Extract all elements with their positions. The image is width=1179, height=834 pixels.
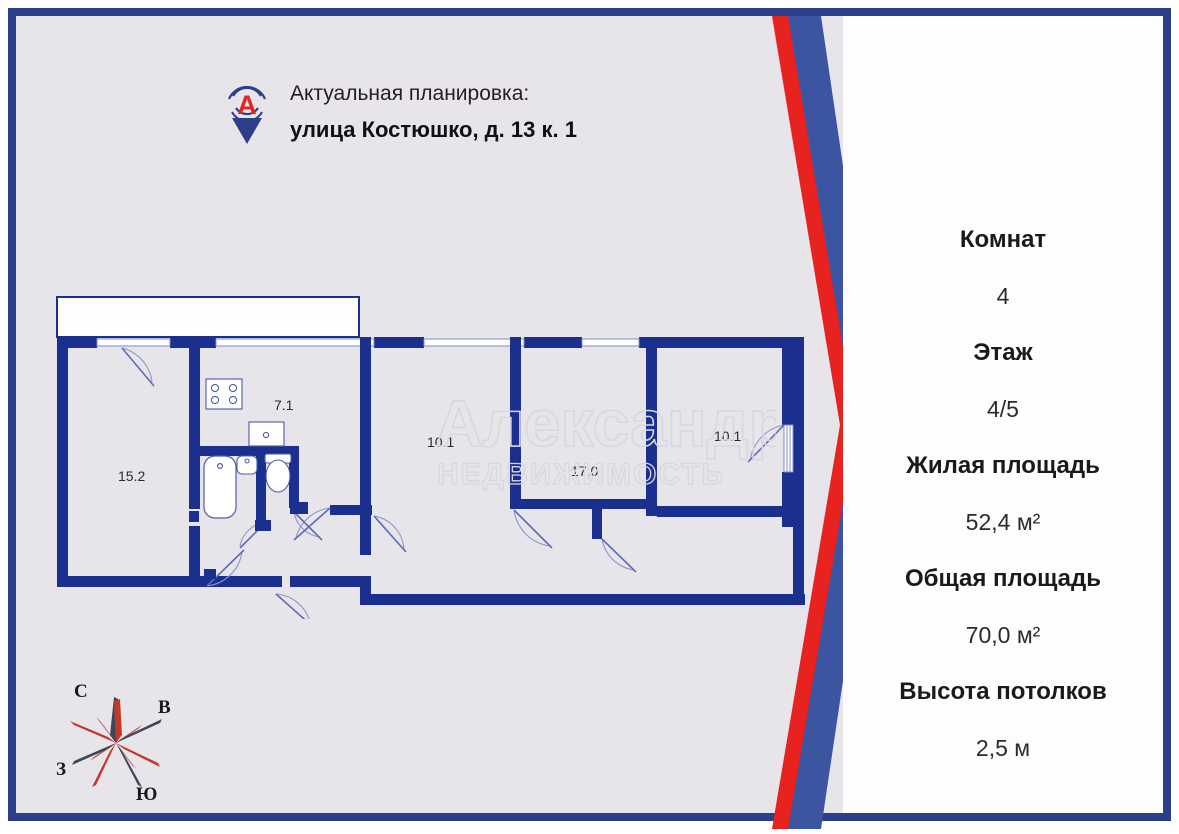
room-area-living-room-left: 15.2 [118,468,145,484]
room-area-kitchen: 7.1 [274,397,293,413]
rooms-label: Комнат [843,212,1163,267]
floorplan-pane: A Актуальная планировка: улица Костюшко,… [16,16,776,813]
map-pin-icon: A [226,74,268,150]
address-header: A Актуальная планировка: улица Костюшко,… [226,74,577,150]
living-area-value: 52,4 м² [843,493,1163,551]
total-area-label: Общая площадь [843,551,1163,606]
property-details-list: Комнат 4 Этаж 4/5 Жилая площадь 52,4 м² … [843,212,1163,777]
ceiling-label: Высота потолков [843,664,1163,719]
room-area-room-middle: 10.1 [427,434,454,450]
room-area-room-center-large: 17.0 [571,463,598,479]
details-pane: Александр НЕДВИЖИМОСТЬ Комнат 4 Этаж 4/5… [843,16,1163,813]
detail-living-area: Жилая площадь 52,4 м² [843,438,1163,551]
compass-label-west: З [56,759,66,781]
compass-label-east: В [158,697,171,719]
detail-ceiling-height: Высота потолков 2,5 м [843,664,1163,777]
total-area-value: 70,0 м² [843,606,1163,664]
plan-address: улица Костюшко, д. 13 к. 1 [290,114,577,145]
address-text-block: Актуальная планировка: улица Костюшко, д… [290,79,577,145]
room-area-room-right: 10.1 [714,428,741,444]
detail-floor: Этаж 4/5 [843,325,1163,438]
plan-caption: Актуальная планировка: [290,79,577,109]
compass-rose: С В З Ю [58,671,198,816]
floor-label: Этаж [843,325,1163,380]
floor-value: 4/5 [843,380,1163,438]
detail-rooms: Комнат 4 [843,212,1163,325]
floorplan-listing-page: A Актуальная планировка: улица Костюшко,… [0,0,1179,829]
svg-text:A: A [237,90,257,120]
ceiling-value: 2,5 м [843,719,1163,777]
living-area-label: Жилая площадь [843,438,1163,493]
rooms-value: 4 [843,267,1163,325]
floorplan-drawing: 15.2 7.1 10.1 17.0 10.1 [44,294,814,619]
compass-label-north: С [74,681,88,703]
detail-total-area: Общая площадь 70,0 м² [843,551,1163,664]
page-frame: A Актуальная планировка: улица Костюшко,… [8,8,1171,821]
compass-label-south: Ю [136,784,157,806]
